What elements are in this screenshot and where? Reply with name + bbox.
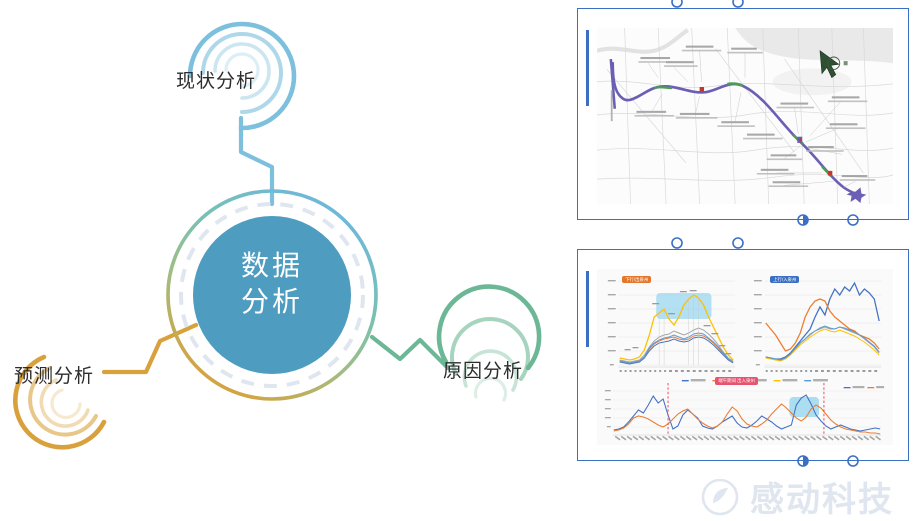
charts-screenshot[interactable]: 下行/出泉州 上行/入泉州 端午期间 出入泉州	[597, 269, 893, 445]
node-label-forecast: 预测分析	[14, 361, 94, 388]
center-title-line2: 分析	[196, 284, 348, 320]
chart-badge-holiday: 端午期间 出入泉州	[715, 377, 757, 384]
charts-svg	[597, 269, 893, 445]
frame-dot-top-left	[672, 238, 682, 248]
charts-panel-frame[interactable]: 下行/出泉州 上行/入泉州 端午期间 出入泉州	[577, 249, 909, 461]
chart-badge-downstream: 下行/出泉州	[622, 276, 651, 283]
chart-badge-upstream: 上行/入泉州	[770, 276, 799, 283]
connector-cause	[372, 337, 448, 368]
frame-dot-top-right	[733, 238, 743, 248]
center-title: 数据 分析	[196, 248, 348, 320]
map-screenshot[interactable]	[597, 28, 893, 204]
frame-dot-bottom-far	[848, 456, 858, 466]
map-svg	[597, 28, 893, 204]
slide-canvas: 现状分析 预测分析 原因分析 数据 分析	[0, 0, 921, 520]
company-logo-icon	[700, 477, 740, 517]
data-analysis-diagram: 现状分析 预测分析 原因分析 数据 分析	[0, 0, 560, 520]
frame-dot-top-right	[733, 0, 743, 7]
center-title-line1: 数据	[196, 248, 348, 284]
map-panel-frame[interactable]	[577, 8, 909, 220]
watermark-text: 感动科技	[750, 472, 894, 521]
node-label-current: 现状分析	[176, 66, 256, 93]
frame-dot-bottom-far	[848, 215, 858, 225]
node-label-cause: 原因分析	[443, 356, 523, 383]
frame-dot-top-left	[672, 0, 682, 7]
watermark: 感动科技	[700, 472, 894, 521]
